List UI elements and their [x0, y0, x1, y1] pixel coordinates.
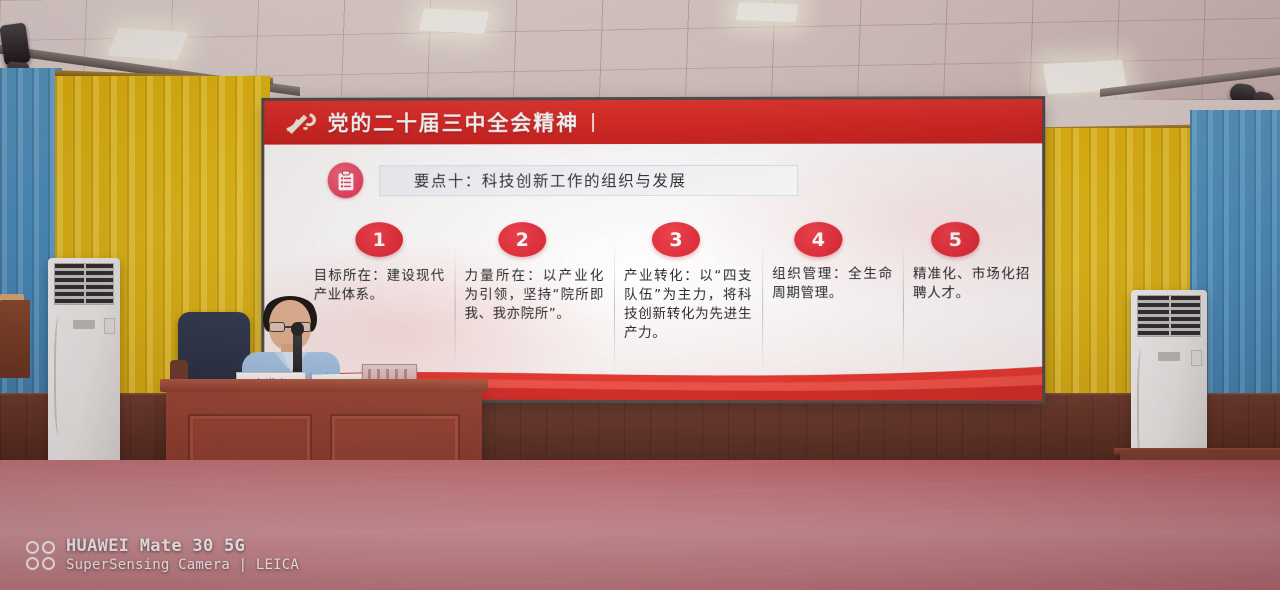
stage-spotlight-icon [0, 22, 31, 65]
column-body-text: 精准化、市场化招聘人才。 [913, 265, 1030, 304]
ac-label-tag [104, 318, 115, 334]
photo-scene: 党的二十届三中全会精神 [0, 0, 1280, 590]
slide-header-bar: 党的二十届三中全会精神 [264, 99, 1042, 144]
ac-brand-logo [1158, 352, 1180, 361]
watermark-line-2: SuperSensing Camera | LEICA [66, 557, 299, 574]
ceiling-light-panel [419, 8, 490, 33]
ceiling-light-panel [107, 27, 188, 60]
column-number-badge: 3 [652, 222, 700, 257]
podium-top-edge [160, 379, 488, 392]
ceiling-light-panel [736, 2, 798, 22]
column-body-text: 力量所在：以产业化为引领，坚持“院所即我、我亦院所”。 [465, 267, 604, 324]
column-body-text: 产业转化：以“四支队伍”为主力，将科技创新转化为先进生产力。 [624, 267, 752, 344]
watermark-line-1: HUAWEI Mate 30 5G [66, 536, 299, 557]
column-number-badge: 4 [794, 222, 842, 257]
microphone-head [291, 322, 304, 336]
ac-seam [54, 316, 66, 436]
column-body-text: 组织管理：全生命周期管理。 [772, 265, 893, 303]
air-conditioner-left [48, 258, 120, 473]
clipboard-icon [328, 162, 364, 198]
slide-subtitle-text: 要点十：科技创新工作的组织与发展 [414, 169, 687, 191]
led-presentation-screen: 党的二十届三中全会精神 [264, 99, 1042, 401]
slide-subtitle-box: 要点十：科技创新工作的组织与发展 [379, 164, 798, 195]
column-number-badge: 5 [931, 222, 979, 257]
header-divider-tick [592, 113, 594, 132]
leica-logo-icon [26, 541, 55, 570]
slide-body: 要点十：科技创新工作的组织与发展 1 目标所在：建设现代产业体系。 2 力量所在… [264, 143, 1042, 400]
column-number-badge: 1 [355, 222, 403, 257]
side-object [0, 300, 30, 378]
party-emblem-icon [284, 110, 318, 136]
eyeglasses-icon [269, 322, 311, 332]
ac-grille [1137, 295, 1201, 337]
watermark-text: HUAWEI Mate 30 5G SuperSensing Camera | … [66, 536, 299, 574]
ac-label-tag [1191, 350, 1202, 366]
slide-header-title: 党的二十届三中全会精神 [328, 107, 579, 137]
column-number-badge: 2 [498, 222, 546, 257]
slide-subtitle-row: 要点十：科技创新工作的组织与发展 [328, 162, 799, 198]
camera-watermark: HUAWEI Mate 30 5G SuperSensing Camera | … [26, 536, 299, 574]
ac-brand-logo [73, 320, 95, 329]
ac-grille [54, 263, 114, 305]
